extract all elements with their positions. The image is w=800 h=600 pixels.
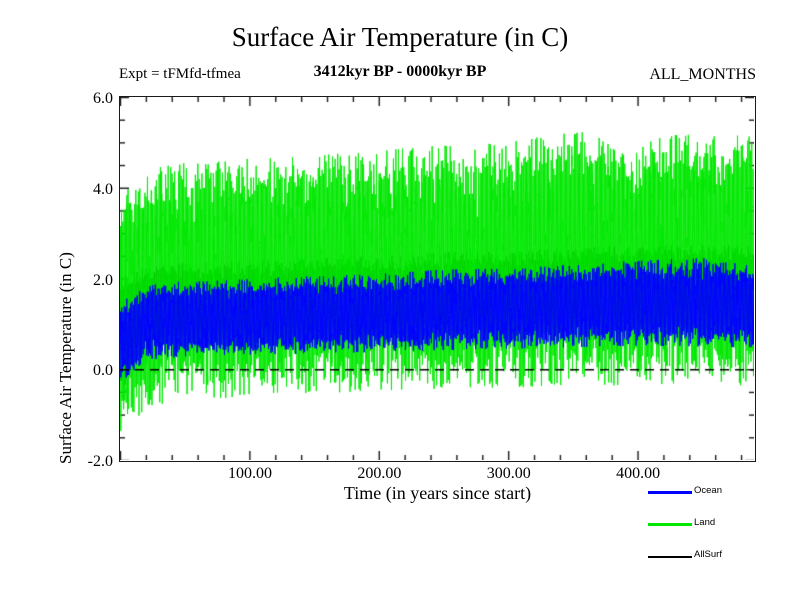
y-tick-label: 4.0 [67,181,113,199]
months-label: ALL_MONTHS [649,66,756,84]
legend-label: AllSurf [694,549,722,560]
x-tick-label: 200.00 [334,465,424,483]
x-tick-label: 300.00 [464,465,554,483]
y-tick-label: -2.0 [67,453,113,471]
chart-title: Surface Air Temperature (in C) [0,22,800,53]
legend-item-ocean[interactable]: Ocean [648,485,798,499]
plot-area [119,96,756,462]
legend-item-allsurf[interactable]: AllSurf [648,549,798,563]
legend-label: Land [694,517,715,528]
legend-swatch-ocean [648,491,692,494]
x-tick-label: 100.00 [205,465,295,483]
chart-legend: OceanLandAllSurf [648,485,798,565]
y-tick-label: 0.0 [67,362,113,380]
legend-item-land[interactable]: Land [648,517,798,531]
subtitle-row: Expt = tFMfd-tfmea 3412kyr BP - 0000kyr … [0,66,800,88]
y-tick-label: 6.0 [67,90,113,108]
legend-label: Ocean [694,485,722,496]
legend-swatch-allsurf [648,556,692,558]
x-tick-label: 400.00 [593,465,683,483]
legend-swatch-land [648,523,692,526]
y-axis-tick-labels: -2.00.02.04.06.0 [65,96,113,462]
chart-page: Surface Air Temperature (in C) Expt = tF… [0,0,800,600]
y-tick-label: 2.0 [67,272,113,290]
series-canvas [120,97,754,460]
